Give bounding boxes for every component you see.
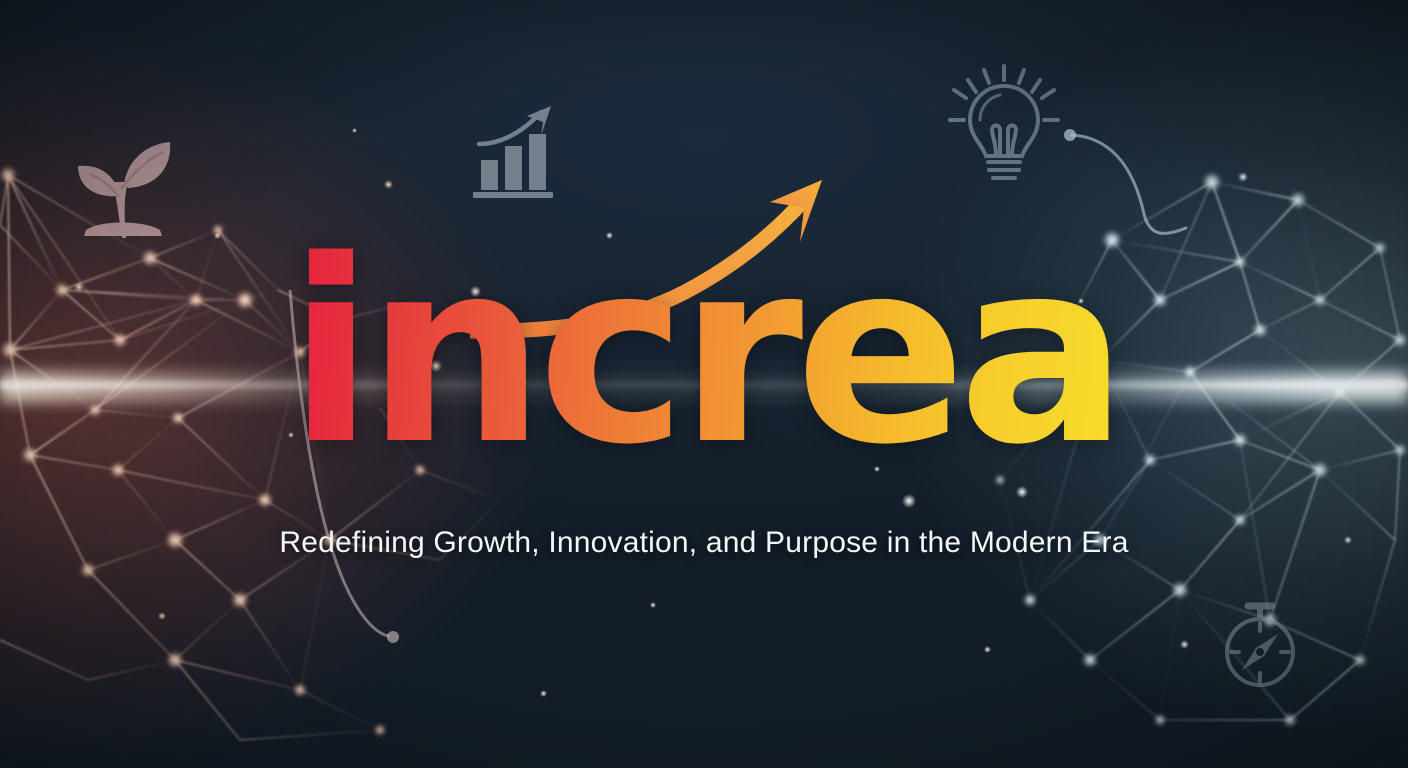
- compass-icon: [1212, 598, 1308, 694]
- hero-banner: increa Redefining Growth, Innovation, an…: [0, 0, 1408, 768]
- brand-wordmark: increa: [288, 246, 1120, 463]
- sprout-icon: [66, 118, 178, 244]
- brand-logo: increa: [0, 246, 1408, 463]
- lightbulb-icon: [948, 62, 1060, 188]
- brand-tagline: Redefining Growth, Innovation, and Purpo…: [0, 526, 1408, 560]
- growth-chart-icon: [465, 104, 561, 202]
